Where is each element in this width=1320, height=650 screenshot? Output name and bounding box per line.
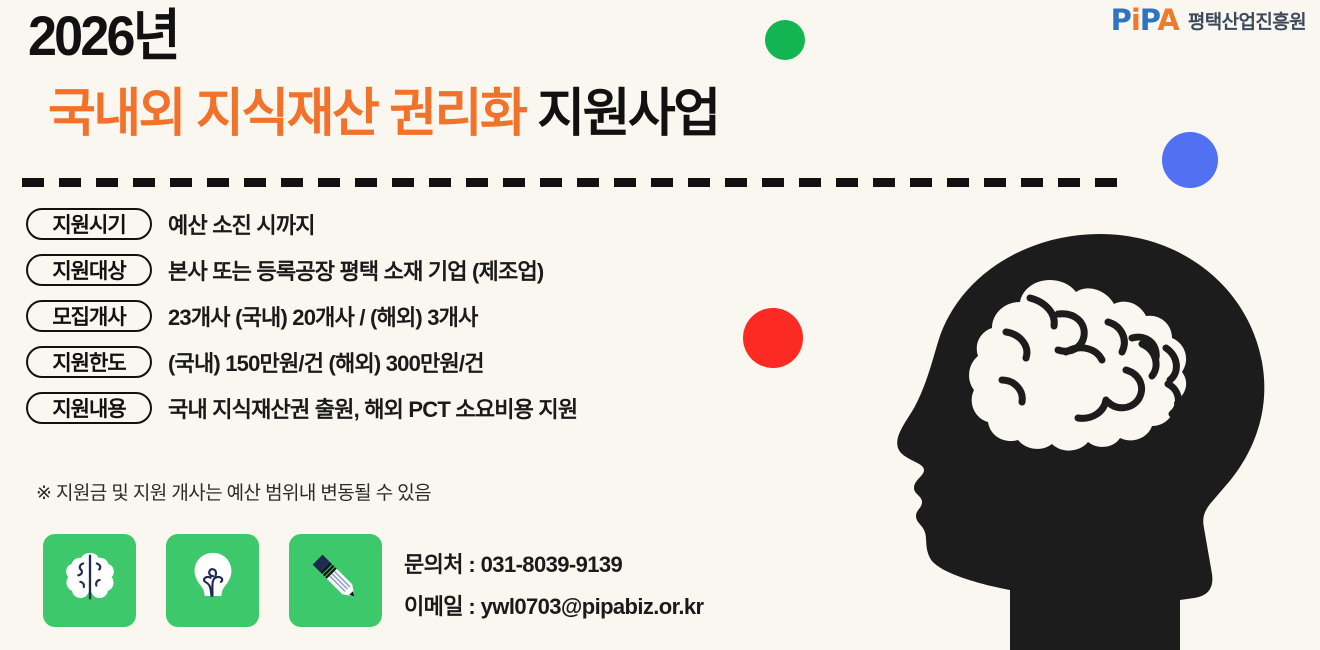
footnote: ※ 지원금 및 지원 개사는 예산 범위내 변동될 수 있음 [36,478,431,505]
info-value: 국내 지식재산권 출원, 해외 PCT 소요비용 지원 [168,392,577,424]
organization-logo: PiPA 평택산업진흥원 [1111,6,1306,35]
logo-letter-a: A [1157,3,1178,37]
info-label-badge: 지원내용 [26,392,152,424]
info-value: 23개사 (국내) 20개사 / (해외) 3개사 [168,300,478,332]
info-label-badge: 모집개사 [26,300,152,332]
info-row: 지원시기 예산 소진 시까지 [26,205,786,243]
blue-circle-decoration [1162,132,1218,188]
lightbulb-icon-tile [166,534,259,627]
brain-icon-tile [43,534,136,627]
contact-email: 이메일 : ywl0703@pipabiz.or.kr [404,589,704,621]
icon-strip [43,534,382,627]
info-row: 모집개사 23개사 (국내) 20개사 / (해외) 3개사 [26,297,786,335]
pencil-icon [304,546,368,615]
info-value: 예산 소진 시까지 [168,208,315,240]
info-label-badge: 지원시기 [26,208,152,240]
page-title-highlight: 국내외 지식재산 권리화 [48,85,525,143]
info-value: 본사 또는 등록공장 평택 소재 기업 (제조업) [168,254,543,286]
info-row: 지원한도 (국내) 150만원/건 (해외) 300만원/건 [26,343,786,381]
info-label-badge: 지원대상 [26,254,152,286]
logo-letter-p1: P [1111,3,1131,37]
lightbulb-icon [182,547,244,614]
brain-icon [59,547,121,614]
page-title: 국내외 지식재산 권리화 지원사업 [48,88,719,140]
page-title-plain: 지원사업 [525,85,718,143]
info-label-badge: 지원한도 [26,346,152,378]
dashed-divider [22,178,1128,187]
contact-phone: 문의처 : 031-8039-9139 [404,547,704,579]
logo-letter-i: i [1131,3,1140,37]
info-row: 지원내용 국내 지식재산권 출원, 해외 PCT 소요비용 지원 [26,389,786,427]
info-value: (국내) 150만원/건 (해외) 300만원/건 [168,346,484,378]
pipa-logomark: PiPA [1111,6,1179,35]
contact-block: 문의처 : 031-8039-9139 이메일 : ywl0703@pipabi… [404,547,704,621]
head-with-brain-silhouette [880,222,1320,650]
info-row: 지원대상 본사 또는 등록공장 평택 소재 기업 (제조업) [26,251,786,289]
pencil-icon-tile [289,534,382,627]
poster-canvas: PiPA 평택산업진흥원 2026년 국내외 지식재산 권리화 지원사업 지원시… [0,0,1320,650]
logo-letter-p2: P [1140,3,1158,37]
title-year: 2026년 [28,8,178,64]
green-circle-decoration [765,20,805,60]
info-list: 지원시기 예산 소진 시까지 지원대상 본사 또는 등록공장 평택 소재 기업 … [26,205,786,435]
organization-name: 평택산업진흥원 [1188,7,1306,34]
